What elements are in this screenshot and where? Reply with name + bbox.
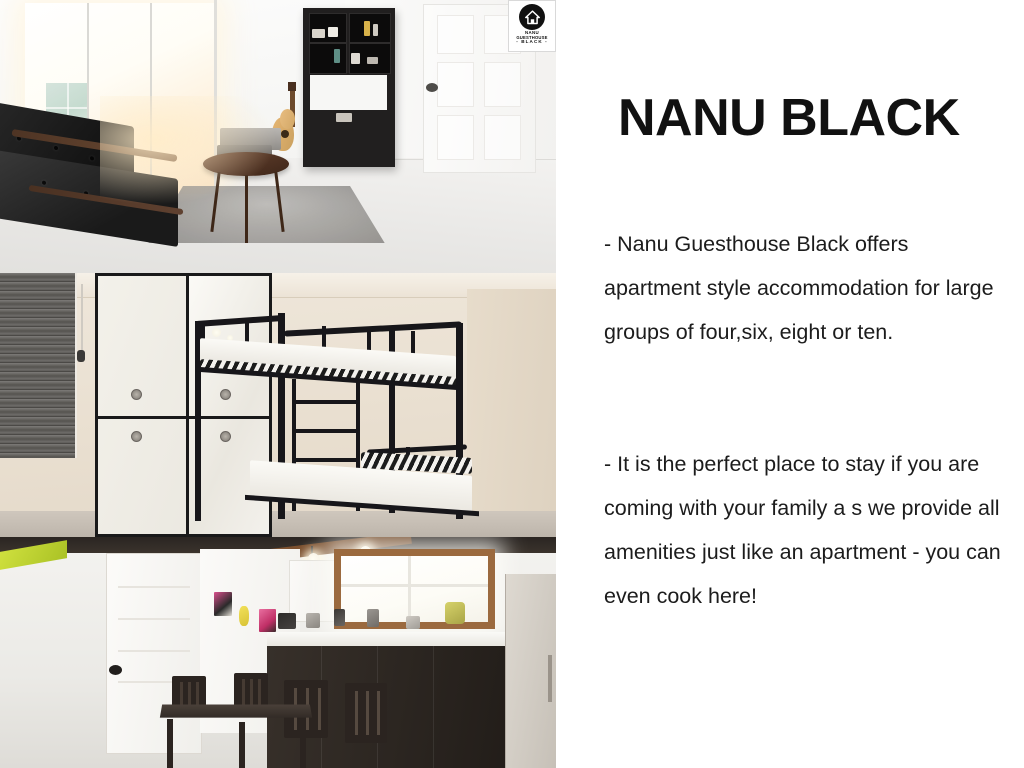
shelf-white-panel	[310, 75, 387, 110]
wall-poster-1	[214, 592, 232, 616]
kitchen-dining-photo	[0, 537, 556, 768]
ladder-rung-2	[292, 429, 359, 433]
ladder-rung-3	[292, 458, 359, 462]
guitar-headstock	[288, 82, 296, 91]
description-paragraph-1: - Nanu Guesthouse Black offers apartment…	[604, 222, 1004, 354]
blind-cord-weight	[77, 350, 85, 362]
rice-cooker	[306, 613, 320, 628]
logo-line-black: - BLACK -	[516, 40, 548, 45]
dining-table	[160, 705, 312, 718]
sink-faucet	[406, 616, 420, 629]
guitar-soundhole	[281, 130, 289, 138]
white-door	[106, 553, 203, 754]
locker-lock-1	[131, 389, 142, 400]
blind-cord	[81, 284, 83, 353]
logo-wordmark: NANU GUESTHOUSE - BLACK -	[516, 31, 548, 45]
locker-lock-4	[220, 431, 231, 442]
locker-divider	[95, 416, 270, 419]
kitchen-scene	[0, 537, 556, 768]
locker-lock-3	[131, 431, 142, 442]
page-title: NANU BLACK	[618, 88, 960, 148]
wall-poster-2	[259, 609, 276, 632]
house-in-circle-icon	[519, 4, 545, 30]
locker-lock-2	[220, 389, 231, 400]
living-room-photo	[0, 0, 556, 273]
pot	[367, 609, 379, 627]
refrigerator	[505, 574, 556, 768]
living-room-scene	[0, 0, 556, 273]
door-handle	[109, 665, 122, 675]
window-blinds	[0, 273, 77, 458]
dorm-wall	[467, 289, 556, 516]
bunk-top-rail-right	[284, 321, 462, 336]
utensil-holder	[334, 609, 345, 626]
slide-canvas: NANU GUESTHOUSE - BLACK - NANU BLACK - N…	[0, 0, 1024, 768]
wall-banana-art	[239, 606, 249, 626]
black-shelving-unit	[303, 8, 395, 166]
photo-column	[0, 0, 556, 768]
dormitory-scene	[0, 273, 556, 537]
dormitory-photo	[0, 273, 556, 537]
dish-rack	[445, 602, 465, 624]
description-paragraph-2: - It is the perfect place to stay if you…	[604, 442, 1004, 618]
ladder-rung-1	[292, 400, 359, 404]
text-panel: NANU BLACK - Nanu Guesthouse Black offer…	[600, 0, 1010, 768]
kitchen-counter	[267, 632, 512, 646]
guitar-upper-bout	[280, 109, 295, 129]
electric-kettle	[278, 613, 296, 629]
shag-rug	[149, 186, 385, 243]
nanu-guesthouse-black-logo: NANU GUESTHOUSE - BLACK -	[508, 0, 556, 52]
fridge-handle	[548, 655, 552, 702]
